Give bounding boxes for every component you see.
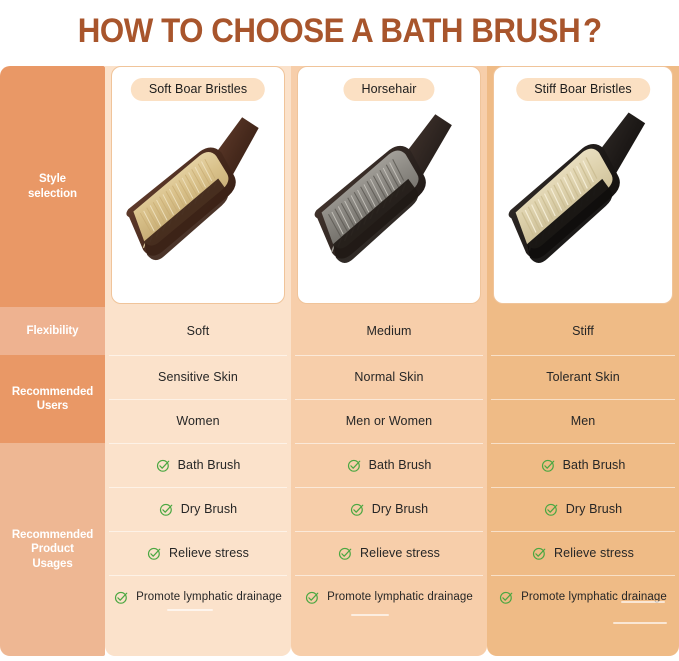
- cell-recommended-user-gender: Women: [105, 399, 291, 443]
- product-image-card: Stiff Boar Bristles: [493, 66, 673, 304]
- column-soft-boar-bristles: Soft Boar Bristles Soft Sensitive Skin W…: [105, 66, 291, 656]
- category-sidebar: Styleselection Flexibility RecommendedUs…: [0, 66, 105, 656]
- cell-value: Medium: [366, 324, 411, 338]
- soft-boar-bristle-brush-photo: [112, 97, 284, 302]
- cell-usage-dry-brush: Dry Brush: [291, 487, 487, 531]
- cell-value: Normal Skin: [354, 370, 423, 384]
- column-header-pill: Soft Boar Bristles: [131, 78, 265, 101]
- check-circle-icon: [338, 546, 353, 561]
- check-circle-icon: [305, 590, 320, 605]
- cell-flexibility: Stiff: [487, 307, 679, 355]
- product-image-card: Horsehair: [297, 66, 481, 304]
- cell-usage-lymphatic-drainage: Promote lymphatic drainage: [105, 575, 291, 619]
- cell-value: Men or Women: [346, 414, 432, 428]
- check-circle-icon: [147, 546, 162, 561]
- horsehair-brush-photo: [298, 97, 480, 302]
- bottom-artifact-line: [167, 609, 213, 611]
- cell-value: Stiff: [572, 324, 594, 338]
- page-title: HOW TO CHOOSE A BATH BRUSH?: [0, 0, 679, 62]
- sidebar-band-label: RecommendedUsers: [12, 385, 93, 414]
- cell-usage-dry-brush: Dry Brush: [105, 487, 291, 531]
- cell-value: Relieve stress: [169, 546, 249, 560]
- cell-value: Sensitive Skin: [158, 370, 238, 384]
- brush-illustration: [112, 97, 284, 302]
- page-title-question-mark: ?: [580, 12, 601, 50]
- cell-value: Promote lymphatic drainage: [136, 591, 282, 603]
- cell-value: Men: [571, 414, 596, 428]
- cell-value: Dry Brush: [566, 502, 622, 516]
- cell-usage-bath-brush: Bath Brush: [105, 443, 291, 487]
- check-circle-icon: [532, 546, 547, 561]
- cell-usage-lymphatic-drainage: Promote lymphatic drainage: [487, 575, 679, 619]
- column-stiff-boar-bristles: Stiff Boar Bristles Stiff Tolerant Skin …: [487, 66, 679, 656]
- sidebar-band-label: RecommendedProductUsages: [12, 528, 93, 571]
- cell-usage-bath-brush: Bath Brush: [291, 443, 487, 487]
- stiff-boar-bristle-brush-photo: [494, 97, 672, 302]
- check-circle-icon: [114, 590, 129, 605]
- cell-usage-relieve-stress: Relieve stress: [487, 531, 679, 575]
- cell-usage-relieve-stress: Relieve stress: [291, 531, 487, 575]
- cell-value: Relieve stress: [360, 546, 440, 560]
- bottom-artifact-line: [621, 601, 665, 603]
- bottom-artifact-line: [613, 622, 667, 624]
- brush-illustration: [298, 97, 480, 302]
- cell-flexibility: Soft: [105, 307, 291, 355]
- column-header-pill: Horsehair: [343, 78, 434, 101]
- page-title-main: HOW TO CHOOSE A BATH BRUSH: [78, 12, 580, 50]
- sidebar-band-recommended-product-usages: RecommendedProductUsages: [0, 443, 105, 656]
- check-circle-icon: [350, 502, 365, 517]
- check-circle-icon: [347, 458, 362, 473]
- cell-usage-bath-brush: Bath Brush: [487, 443, 679, 487]
- cell-flexibility: Medium: [291, 307, 487, 355]
- sidebar-band-label: Styleselection: [28, 172, 77, 201]
- check-circle-icon: [499, 590, 514, 605]
- cell-recommended-user-gender: Men or Women: [291, 399, 487, 443]
- sidebar-band-flexibility: Flexibility: [0, 307, 105, 355]
- cell-value: Bath Brush: [369, 458, 432, 472]
- check-circle-icon: [159, 502, 174, 517]
- page-title-text: HOW TO CHOOSE A BATH BRUSH?: [78, 12, 602, 51]
- cell-value: Bath Brush: [178, 458, 241, 472]
- product-image-card: Soft Boar Bristles: [111, 66, 285, 304]
- cell-value: Relieve stress: [554, 546, 634, 560]
- column-horsehair: Horsehair Medium Normal Skin Men or Wome…: [291, 66, 487, 656]
- cell-value: Dry Brush: [372, 502, 428, 516]
- cell-value: Soft: [187, 324, 210, 338]
- cell-recommended-user-skin: Normal Skin: [291, 355, 487, 399]
- cell-value: Dry Brush: [181, 502, 237, 516]
- cell-usage-relieve-stress: Relieve stress: [105, 531, 291, 575]
- check-circle-icon: [544, 502, 559, 517]
- comparison-table: Styleselection Flexibility RecommendedUs…: [0, 66, 679, 656]
- cell-value: Tolerant Skin: [546, 370, 620, 384]
- sidebar-band-label: Flexibility: [27, 324, 79, 338]
- check-circle-icon: [156, 458, 171, 473]
- bottom-artifact-line: [351, 614, 389, 616]
- cell-recommended-user-gender: Men: [487, 399, 679, 443]
- cell-value: Women: [176, 414, 219, 428]
- check-circle-icon: [541, 458, 556, 473]
- infographic-root: HOW TO CHOOSE A BATH BRUSH? Styleselecti…: [0, 0, 679, 661]
- sidebar-band-style-selection: Styleselection: [0, 66, 105, 307]
- cell-recommended-user-skin: Sensitive Skin: [105, 355, 291, 399]
- brush-illustration: [494, 97, 672, 302]
- cell-value: Promote lymphatic drainage: [327, 591, 473, 603]
- cell-recommended-user-skin: Tolerant Skin: [487, 355, 679, 399]
- cell-usage-lymphatic-drainage: Promote lymphatic drainage: [291, 575, 487, 619]
- cell-usage-dry-brush: Dry Brush: [487, 487, 679, 531]
- column-header-pill: Stiff Boar Bristles: [516, 78, 650, 101]
- cell-value: Bath Brush: [563, 458, 626, 472]
- sidebar-band-recommended-users: RecommendedUsers: [0, 355, 105, 443]
